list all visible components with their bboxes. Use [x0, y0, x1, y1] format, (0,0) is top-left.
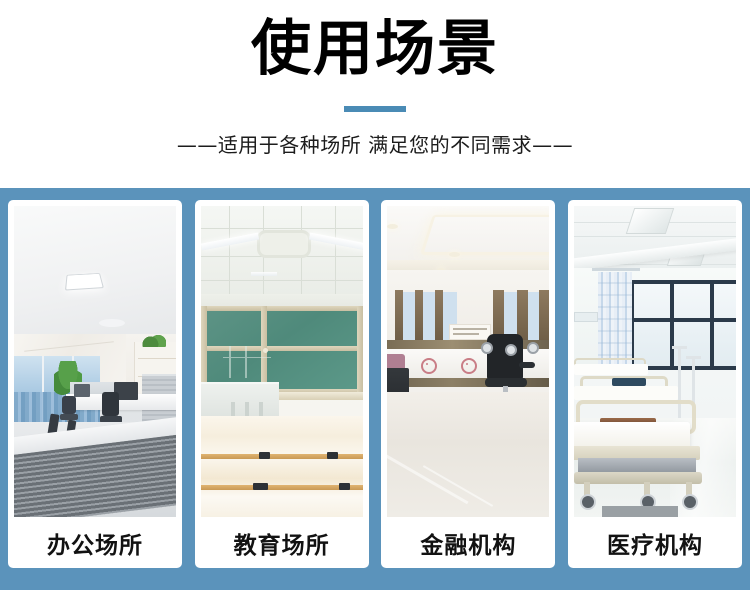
desk-fixture — [253, 483, 268, 490]
privacy-curtain — [598, 272, 632, 364]
scene-card-medical[interactable]: 医疗机构 — [568, 200, 742, 568]
floor-mat — [602, 506, 678, 517]
classroom-interior-photo — [201, 206, 363, 517]
curtain — [415, 290, 423, 344]
ceiling-vent-icon — [257, 230, 311, 258]
scene-card-office[interactable]: 办公场所 — [8, 200, 182, 568]
ceiling-surface — [14, 206, 176, 336]
scene-band: 办公场所 — [0, 188, 750, 590]
hospital-ward-photo — [574, 206, 736, 517]
scene-card-education[interactable]: 教育场所 — [195, 200, 369, 568]
desk-edge-trim — [201, 454, 363, 459]
tiled-floor — [387, 392, 549, 517]
office-interior-photo — [14, 206, 176, 517]
window — [395, 290, 457, 344]
page-subtitle: ——适用于各种场所 满足您的不同需求—— — [0, 130, 750, 160]
desk-fixture — [339, 483, 350, 490]
use-scenarios-page: 使用场景 ——适用于各种场所 满足您的不同需求—— — [0, 0, 750, 590]
desk-fixture — [327, 452, 338, 459]
scene-label-financial: 金融机构 — [387, 517, 549, 568]
page-title: 使用场景 — [0, 14, 750, 84]
title-divider — [344, 106, 406, 112]
scene-card-financial[interactable]: 金融机构 — [381, 200, 555, 568]
scene-label-office: 办公场所 — [14, 517, 176, 568]
recessed-light-icon — [99, 319, 125, 327]
page-header: 使用场景 ——适用于各种场所 满足您的不同需求—— — [0, 0, 750, 188]
scene-label-education: 教育场所 — [201, 517, 363, 568]
scene-label-medical: 医疗机构 — [574, 517, 736, 568]
chalk-writing — [223, 346, 271, 378]
led-panel-light-icon — [65, 273, 104, 291]
ward-window — [630, 280, 736, 370]
cove-lighting — [420, 215, 549, 255]
ceiling-duct — [626, 208, 674, 234]
hospital-bed — [574, 396, 720, 506]
wall-shelf — [574, 312, 598, 322]
scene-card-row: 办公场所 — [8, 200, 742, 568]
student-desk-rows — [201, 416, 363, 517]
plant-icon — [140, 334, 166, 347]
curtain — [395, 290, 403, 344]
curtain — [539, 290, 549, 344]
desk-fixture — [259, 452, 270, 459]
bank-interior-photo — [387, 206, 549, 517]
fluorescent-tube-light-icon — [251, 272, 277, 276]
curtain — [435, 290, 443, 344]
curtain-track — [592, 268, 640, 271]
